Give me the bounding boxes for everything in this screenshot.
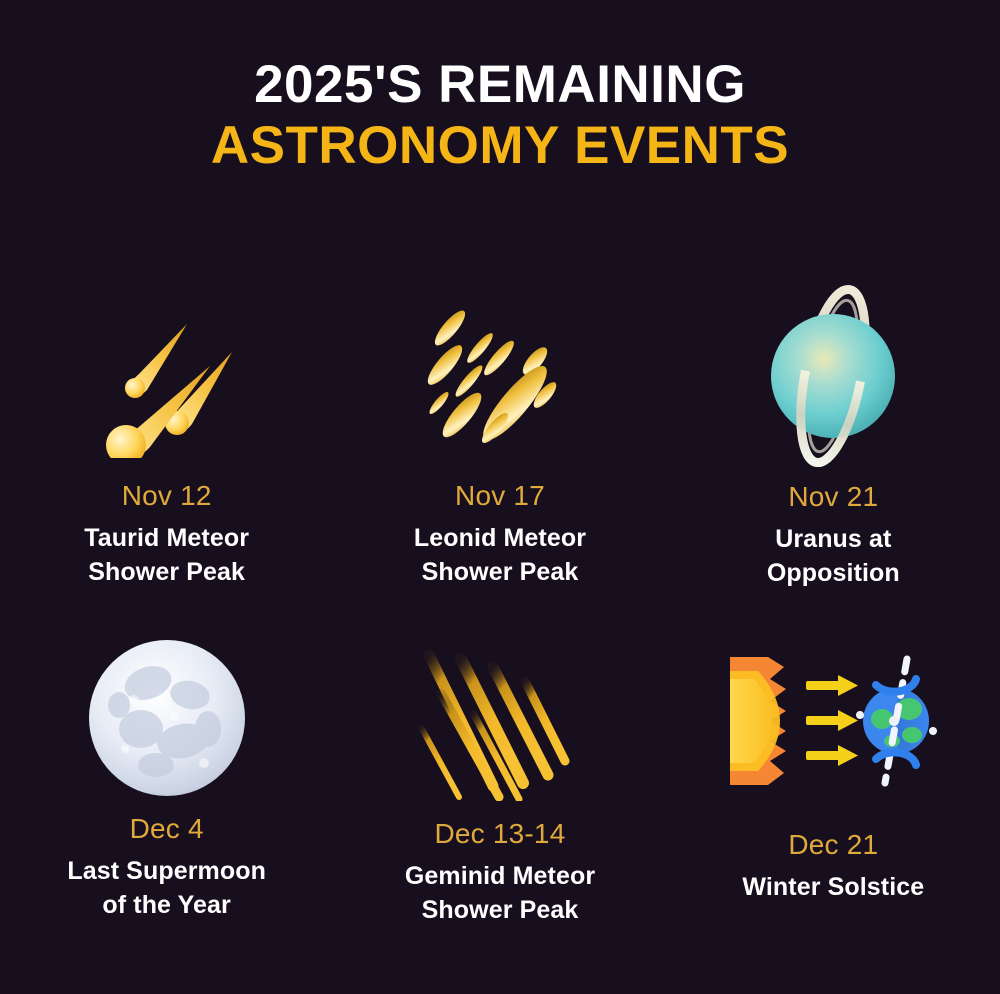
event-card-geminid[interactable]: Dec 13-14 Geminid Meteor Shower Peak	[333, 628, 666, 958]
event-name-line1: Geminid Meteor	[405, 862, 595, 890]
sun-shape	[730, 657, 786, 785]
sun-earth-tilt-icon	[728, 638, 938, 808]
event-date: Nov 21	[788, 482, 878, 513]
full-moon-icon	[86, 628, 248, 808]
event-name-line2: Shower Peak	[422, 558, 579, 586]
event-name: Uranus at Opposition	[767, 522, 900, 590]
event-name: Last Supermoon of the Year	[67, 854, 266, 922]
title-line-primary: 2025's REMAINING	[0, 54, 1000, 115]
event-name-line2: of the Year	[102, 891, 230, 919]
events-grid: Nov 12 Taurid Meteor Shower Peak	[0, 290, 1000, 958]
event-card-supermoon[interactable]: Dec 4 Last Supermoon of the Year	[0, 628, 333, 958]
event-date: Dec 4	[130, 814, 204, 845]
event-name-line1: Leonid Meteor	[414, 524, 586, 552]
event-card-taurid[interactable]: Nov 12 Taurid Meteor Shower Peak	[0, 290, 333, 628]
light-arrows	[806, 675, 858, 766]
event-card-uranus[interactable]: Nov 21 Uranus at Opposition	[667, 290, 1000, 628]
event-name-line2: Shower Peak	[422, 896, 579, 924]
uranus-planet-icon	[743, 276, 923, 476]
event-name: Winter Solstice	[742, 870, 924, 904]
earth-shape	[856, 659, 937, 783]
event-name-line2: Opposition	[767, 559, 900, 587]
event-name: Leonid Meteor Shower Peak	[414, 521, 586, 589]
event-date: Nov 17	[455, 481, 545, 512]
event-name-line1: Last Supermoon	[67, 857, 266, 885]
event-name: Geminid Meteor Shower Peak	[405, 859, 595, 927]
astronomy-events-infographic: { "title": { "line1": "2025's REMAINING"…	[0, 0, 1000, 994]
event-date: Dec 13-14	[434, 819, 565, 850]
comets-icon	[92, 290, 242, 475]
meteor-streaks-icon	[415, 628, 585, 813]
event-name-line1: Winter Solstice	[742, 873, 924, 901]
meteor-shower-streaks-icon	[417, 290, 582, 475]
title-line-secondary: ASTRONOMY EVENTS	[0, 115, 1000, 176]
event-date: Dec 21	[788, 830, 878, 861]
event-date: Nov 12	[122, 481, 212, 512]
event-name-line2: Shower Peak	[88, 558, 245, 586]
page-title: 2025's REMAINING ASTRONOMY EVENTS	[0, 0, 1000, 177]
event-name-line1: Taurid Meteor	[84, 524, 249, 552]
event-name: Taurid Meteor Shower Peak	[84, 521, 249, 589]
event-name-line1: Uranus at	[775, 525, 891, 553]
event-card-leonid[interactable]: Nov 17 Leonid Meteor Shower Peak	[333, 290, 666, 628]
event-card-winter-solstice[interactable]: Dec 21 Winter Solstice	[667, 628, 1000, 958]
